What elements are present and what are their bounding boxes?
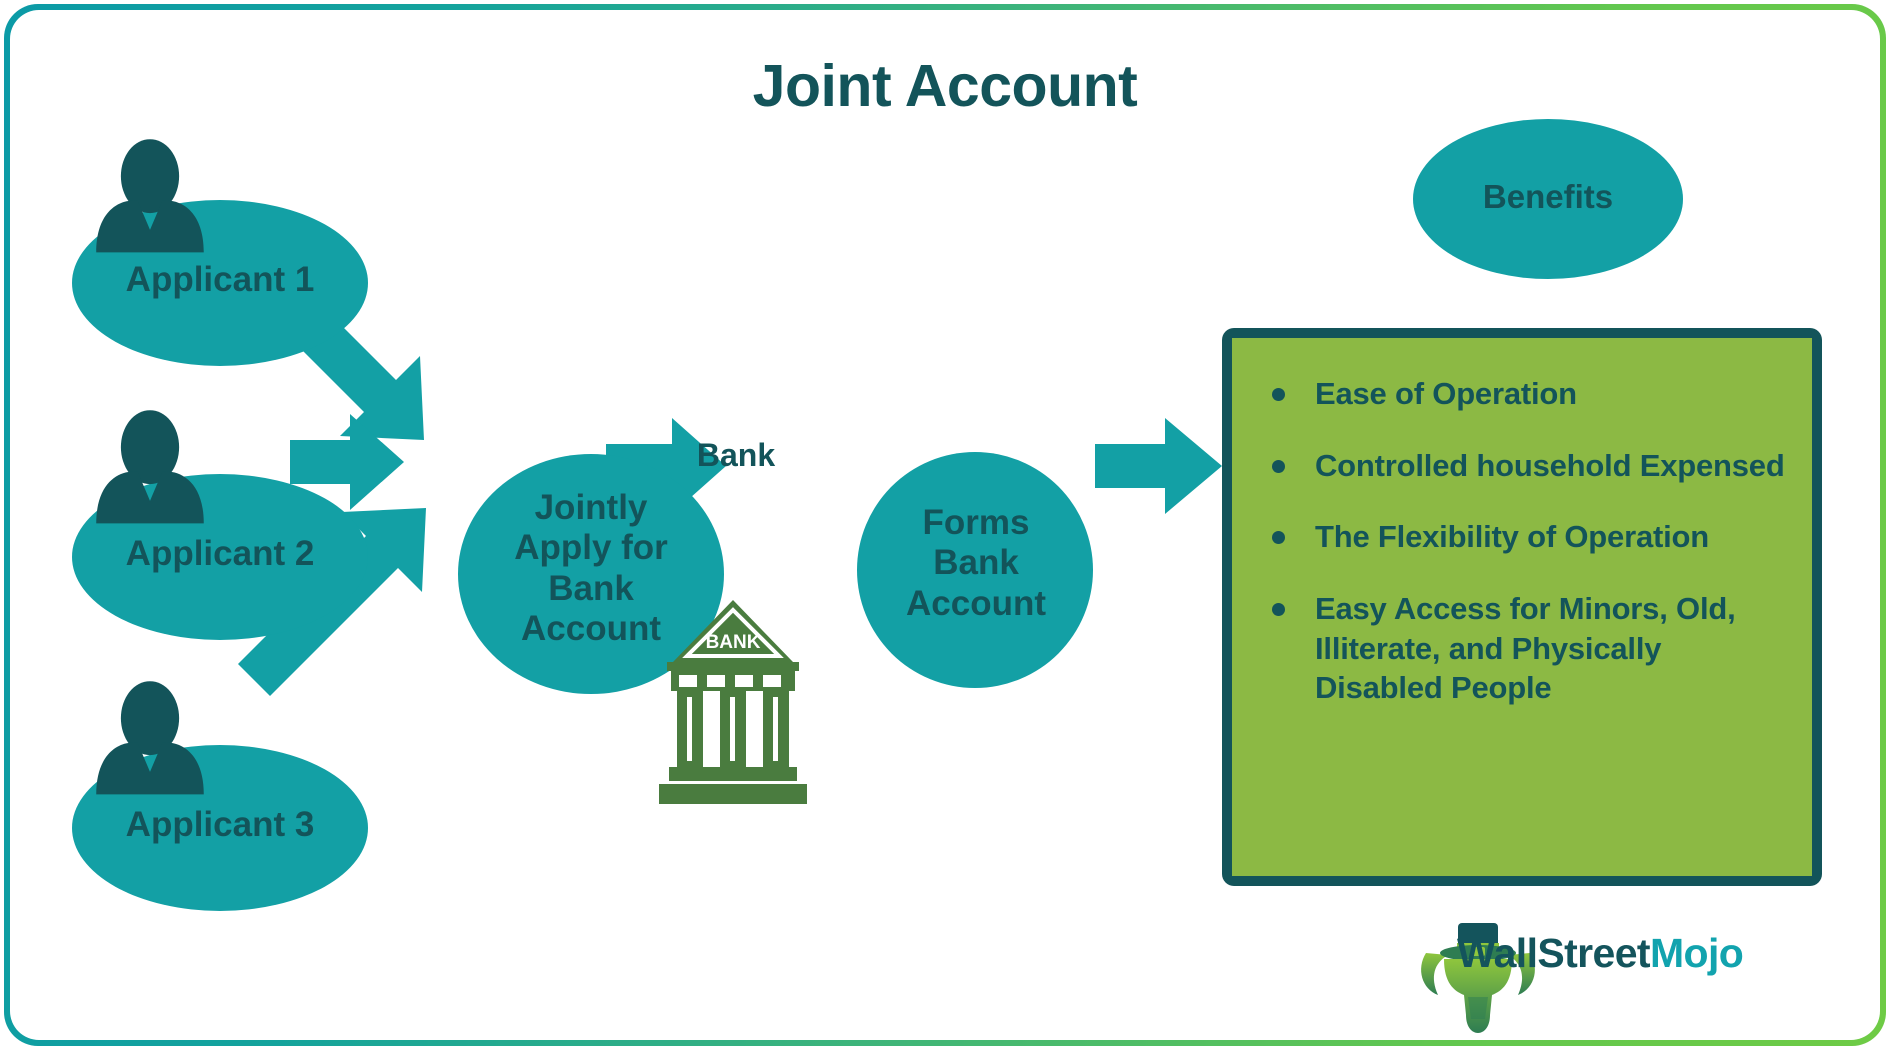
bullet-icon: [1272, 603, 1285, 616]
logo-text-wallstreet: WallStreet: [1457, 930, 1650, 976]
bullet-icon: [1272, 531, 1285, 544]
benefit-text: Easy Access for Minors, Old, Illiterate,…: [1315, 589, 1786, 708]
benefit-item: Easy Access for Minors, Old, Illiterate,…: [1258, 589, 1786, 708]
arrow-forms-to-benefits: [1095, 418, 1222, 514]
logo-text-mojo: Mojo: [1650, 930, 1743, 976]
forms-circle[interactable]: [857, 452, 1093, 688]
benefit-text: The Flexibility of Operation: [1315, 517, 1786, 557]
logo-wordmark: WallStreetMojo: [1457, 930, 1743, 977]
page-title: Joint Account: [0, 52, 1890, 120]
infographic-canvas: BANK: [0, 0, 1890, 1050]
benefit-item: Ease of Operation: [1258, 374, 1786, 414]
benefit-text: Ease of Operation: [1315, 374, 1786, 414]
benefit-item: The Flexibility of Operation: [1258, 517, 1786, 557]
bank-caption: Bank: [666, 437, 806, 474]
person-icon-1: [96, 139, 204, 252]
person-icon-2: [96, 410, 204, 523]
benefit-item: Controlled household Expensed: [1258, 446, 1786, 486]
benefits-panel-fill: Ease of Operation Controlled household E…: [1232, 338, 1812, 876]
benefit-text: Controlled household Expensed: [1315, 446, 1786, 486]
bullet-icon: [1272, 460, 1285, 473]
benefits-panel: Ease of Operation Controlled household E…: [1222, 328, 1822, 886]
wallstreetmojo-logo[interactable]: WallStreetMojo: [1443, 930, 1743, 977]
svg-text:BANK: BANK: [706, 632, 761, 653]
person-icon-3: [96, 681, 204, 794]
bullet-icon: [1272, 388, 1285, 401]
benefits-ellipse[interactable]: [1413, 119, 1683, 279]
